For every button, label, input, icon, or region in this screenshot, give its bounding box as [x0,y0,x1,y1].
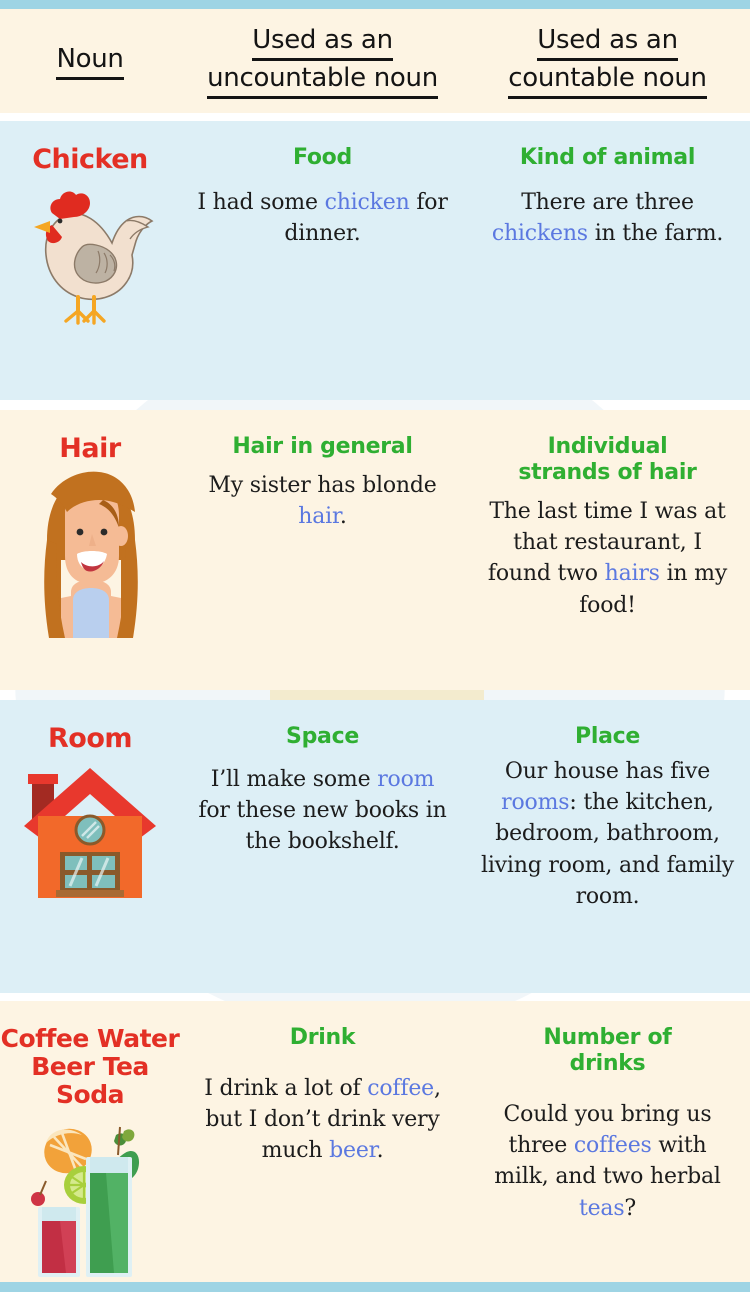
sentence-post: . [377,1138,384,1163]
drinks-illustration-icon [20,1115,160,1281]
table-row: Room [0,700,750,993]
row-countable-cell-room: Place Our house has five rooms: the kitc… [465,700,750,993]
noun-label: Room [0,724,180,754]
table-row: Chicken Food I had some chicke [0,121,750,400]
row-noun-cell-drinks: Coffee WaterBeer Tea Soda [0,1001,180,1282]
countable-title: Individualstrands of hair [479,434,736,486]
sentence-highlight: room [377,767,434,792]
noun-label-line2: Beer Tea Soda [31,1052,149,1109]
noun-label: Hair [0,434,180,464]
sentence-pre: I had some [197,190,324,215]
house-illustration-icon [20,760,160,905]
row-countable-cell-hair: Individualstrands of hair The last time … [465,410,750,690]
uncountable-title: Hair in general [194,434,451,460]
row-countable-cell-chicken: Kind of animal There are three chickens … [465,121,750,400]
header-uncountable-line1: Used as an [252,23,393,61]
sentence-highlight: chickens [492,221,588,246]
sentence-post: in the farm. [588,221,723,246]
row-uncountable-cell-drinks: Drink I drink a lot of coffee, but I don… [180,1001,465,1282]
sentence-highlight: rooms [501,790,569,815]
header-noun-label: Noun [56,42,123,80]
girl-illustration-icon [25,470,155,638]
sentence-pre: I’ll make some [211,767,377,792]
sentence-pre: My sister has blonde [208,473,436,498]
header-countable-line2: countable noun [508,61,706,99]
sentence-pre: Our house has five [505,759,710,784]
header-col-uncountable: Used as an uncountable noun [180,23,465,100]
sentence-post: . [340,504,347,529]
sentence-post: for these new books in the bookshelf. [198,798,446,854]
sentence-pre: There are three [521,190,694,215]
countable-sentence: The last time I was at that restaurant, … [479,496,736,621]
countable-title-line2: strands of hair [518,460,696,485]
sentence-post: ? [624,1196,636,1221]
countable-title-line1: Number of [543,1025,671,1050]
table-row: Hair [0,410,750,690]
uncountable-sentence: I had some chicken for dinner. [194,187,451,249]
chicken-illustration-icon [22,181,158,331]
row-uncountable-cell-chicken: Food I had some chicken for dinner. [180,121,465,400]
countable-title: Number ofdrinks [479,1025,736,1077]
countable-title: Kind of animal [479,145,736,171]
row-uncountable-cell-room: Space I’ll make some room for these new … [180,700,465,993]
row-noun-cell-chicken: Chicken [0,121,180,400]
table-header-row: Noun Used as an uncountable noun Used as… [0,9,750,113]
sentence-highlight: coffee [367,1076,434,1101]
uncountable-sentence: I drink a lot of coffee, but I don’t dri… [194,1073,451,1167]
header-col-countable: Used as an countable noun [465,23,750,100]
row-uncountable-cell-hair: Hair in general My sister has blonde hai… [180,410,465,690]
header-countable-line1: Used as an [537,23,678,61]
sentence-highlight: hairs [605,561,660,586]
row-countable-cell-drinks: Number ofdrinks Could you bring us three… [465,1001,750,1282]
header-uncountable-line2: uncountable noun [207,61,438,99]
sentence-highlight: chicken [325,190,410,215]
table-row: Coffee WaterBeer Tea Soda [0,1001,750,1282]
uncountable-title: Space [194,724,451,750]
countable-sentence: Could you bring us three coffees with mi… [479,1099,736,1224]
infographic-poster: Noun Used as an uncountable noun Used as… [0,0,750,1292]
countable-sentence: There are three chickens in the farm. [479,187,736,249]
noun-label: Chicken [0,145,180,175]
sentence-highlight: hair [298,504,340,529]
uncountable-sentence: My sister has blonde hair. [194,470,451,532]
row-noun-cell-hair: Hair [0,410,180,690]
sentence-highlight-2: beer [329,1138,376,1163]
countable-title: Place [479,724,736,750]
sentence-pre: I drink a lot of [204,1076,367,1101]
top-accent-bar [0,0,750,9]
uncountable-sentence: I’ll make some room for these new books … [194,764,451,858]
countable-sentence: Our house has five rooms: the kitchen, b… [479,756,736,912]
bottom-accent-bar [0,1282,750,1292]
countable-title-line1: Individual [548,434,668,459]
header-col-noun: Noun [0,42,180,80]
row-noun-cell-room: Room [0,700,180,993]
uncountable-title: Food [194,145,451,171]
countable-title-line2: drinks [570,1051,646,1076]
uncountable-title: Drink [194,1025,451,1051]
noun-label-line1: Coffee Water [1,1024,180,1053]
sentence-highlight: coffees [574,1133,652,1158]
sentence-highlight-2: teas [579,1196,624,1221]
noun-label: Coffee WaterBeer Tea Soda [0,1025,180,1109]
